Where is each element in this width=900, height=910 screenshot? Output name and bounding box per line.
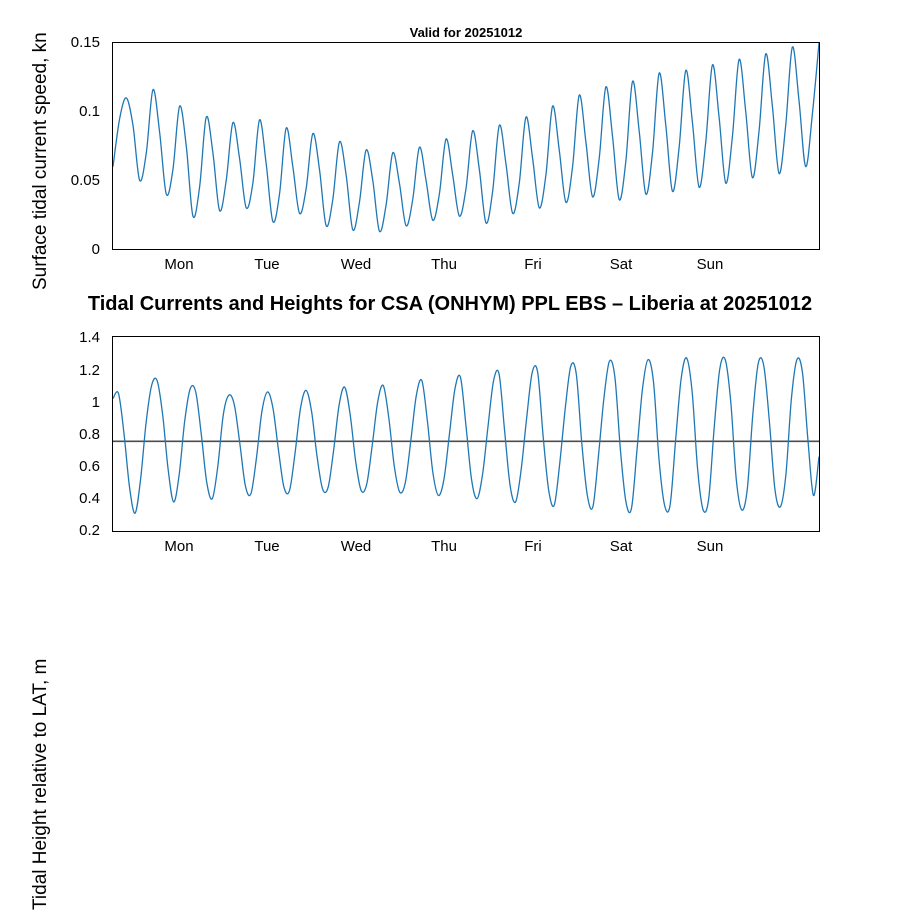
bottom-xtick-sun: Sun [670, 538, 750, 555]
bottom-chart-series-svg [113, 337, 819, 531]
bottom-xtick-fri: Fri [493, 538, 573, 555]
top-ytick-2: 0.1 [0, 103, 100, 120]
top-ytick-0: 0 [0, 241, 100, 258]
tidal-height-chart-panel: Tidal Height relative to LAT, m 0.2 0.4 … [0, 300, 900, 600]
top-ytick-3: 0.15 [0, 34, 100, 51]
bottom-chart-plot-area [112, 336, 820, 532]
top-xtick-sun: Sun [670, 256, 750, 273]
bottom-xtick-thu: Thu [404, 538, 484, 555]
page-title: Tidal Currents and Heights for CSA (ONHY… [0, 293, 900, 316]
top-chart-title: Valid for 20251012 [112, 25, 820, 40]
tidal-current-chart-panel: Valid for 20251012 Surface tidal current… [0, 0, 900, 290]
bottom-chart-y-axis-label: Tidal Height relative to LAT, m [30, 659, 52, 910]
bottom-xtick-tue: Tue [227, 538, 307, 555]
bottom-ytick-0: 0.2 [0, 522, 100, 539]
bottom-ytick-6: 1.4 [0, 329, 100, 346]
bottom-ytick-4: 1 [0, 394, 100, 411]
top-xtick-fri: Fri [493, 256, 573, 273]
bottom-ytick-3: 0.8 [0, 426, 100, 443]
top-xtick-sat: Sat [581, 256, 661, 273]
top-ytick-1: 0.05 [0, 172, 100, 189]
bottom-xtick-sat: Sat [581, 538, 661, 555]
top-xtick-tue: Tue [227, 256, 307, 273]
bottom-ytick-1: 0.4 [0, 490, 100, 507]
top-xtick-thu: Thu [404, 256, 484, 273]
bottom-ytick-2: 0.6 [0, 458, 100, 475]
bottom-ytick-5: 1.2 [0, 362, 100, 379]
bottom-xtick-wed: Wed [316, 538, 396, 555]
top-xtick-wed: Wed [316, 256, 396, 273]
top-xtick-mon: Mon [139, 256, 219, 273]
top-chart-series-svg [113, 43, 819, 249]
top-chart-plot-area [112, 42, 820, 250]
bottom-xtick-mon: Mon [139, 538, 219, 555]
